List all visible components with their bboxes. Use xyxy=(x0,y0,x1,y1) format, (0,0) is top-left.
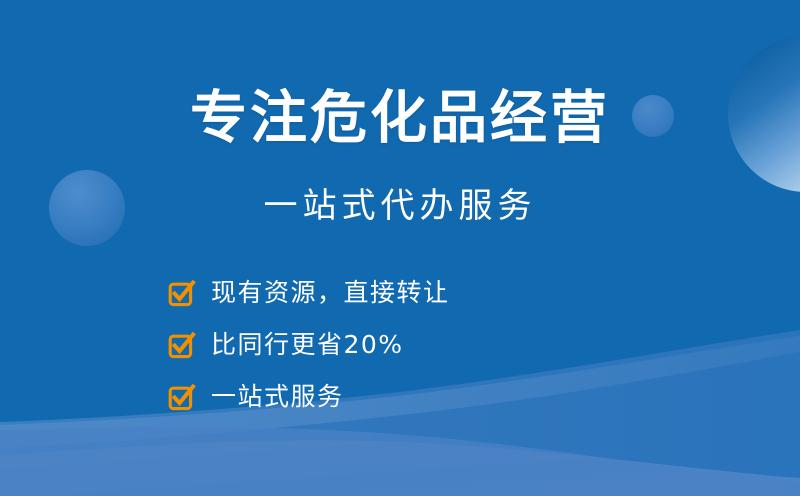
list-item-label: 现有资源，直接转让 xyxy=(211,276,450,310)
list-item-label: 一站式服务 xyxy=(211,380,344,414)
list-item: 现有资源，直接转让 xyxy=(168,276,688,310)
page-title: 专注危化品经营 xyxy=(0,86,800,150)
checkbox-checked-icon xyxy=(168,332,195,359)
list-item-label: 比同行更省20% xyxy=(211,328,404,362)
page-subtitle: 一站式代办服务 xyxy=(0,184,800,228)
banner-content: 专注危化品经营 一站式代办服务 现有资源，直接转让 xyxy=(0,0,800,496)
list-item: 一站式服务 xyxy=(168,380,688,414)
list-item: 比同行更省20% xyxy=(168,328,688,362)
feature-list: 现有资源，直接转让 比同行更省20% 一站式 xyxy=(168,276,688,432)
promo-banner: 专注危化品经营 一站式代办服务 现有资源，直接转让 xyxy=(0,0,800,496)
checkbox-checked-icon xyxy=(168,384,195,411)
checkbox-checked-icon xyxy=(168,280,195,307)
